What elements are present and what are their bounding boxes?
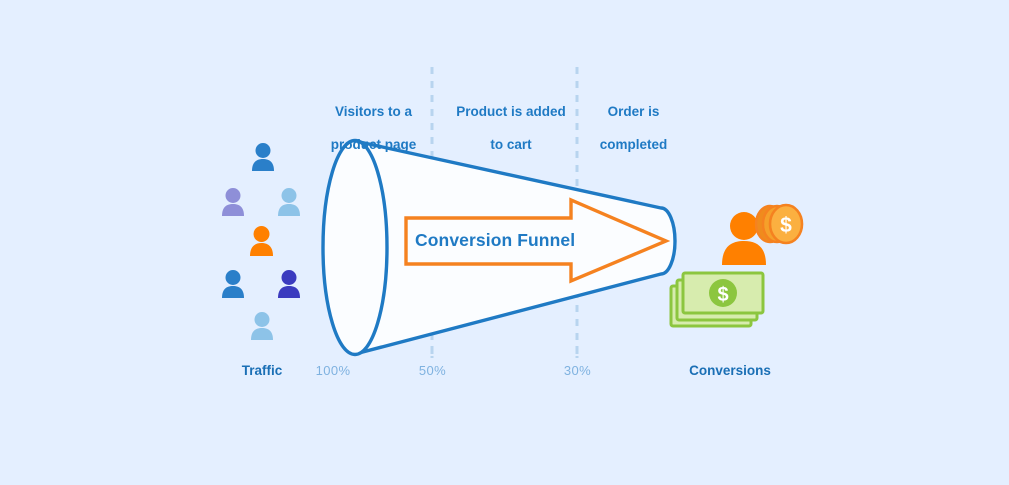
- coin-stack-icon: $: [756, 205, 802, 243]
- stage-label-order: Order is completed: [577, 88, 675, 170]
- axis-pct-50: 50%: [404, 363, 461, 379]
- person-icon-top: [252, 143, 274, 171]
- person-icon-lower-right: [278, 270, 300, 298]
- stage-label-visitors: Visitors to a product page: [305, 88, 427, 170]
- person-icon-bottom: [251, 312, 273, 340]
- stage-label-visitors-line1: Visitors to a: [335, 104, 412, 119]
- axis-pct-30: 30%: [549, 363, 606, 379]
- axis-label-traffic: Traffic: [212, 363, 312, 379]
- person-icon-lower-left: [222, 270, 244, 298]
- banknote-dollar-glyph: $: [717, 284, 728, 306]
- stage-label-cart-line1: Product is added: [456, 104, 566, 119]
- coin-dollar-glyph: $: [780, 214, 792, 237]
- funnel-diagram-canvas: $ $ Visitors to a product page Product i…: [0, 0, 1009, 485]
- funnel-caption: Conversion Funnel: [415, 230, 575, 251]
- person-icon-center-highlight: [250, 226, 273, 256]
- axis-tick-marks: [432, 346, 577, 358]
- funnel-mouth-ellipse: [323, 141, 387, 355]
- stage-label-order-line1: Order is: [608, 104, 660, 119]
- stage-label-visitors-line2: product page: [331, 137, 417, 152]
- conversions-icons-group: $ $: [671, 205, 802, 326]
- person-icon-upper-right: [278, 188, 300, 216]
- stage-label-order-line2: completed: [600, 137, 668, 152]
- traffic-people-group: [222, 143, 300, 340]
- stage-label-cart-line2: to cart: [490, 137, 531, 152]
- axis-label-conversions: Conversions: [670, 363, 790, 379]
- banknote-stack-icon: $: [671, 273, 763, 326]
- axis-pct-100: 100%: [303, 363, 363, 379]
- stage-label-cart: Product is added to cart: [435, 88, 572, 170]
- person-icon-upper-left: [222, 188, 244, 216]
